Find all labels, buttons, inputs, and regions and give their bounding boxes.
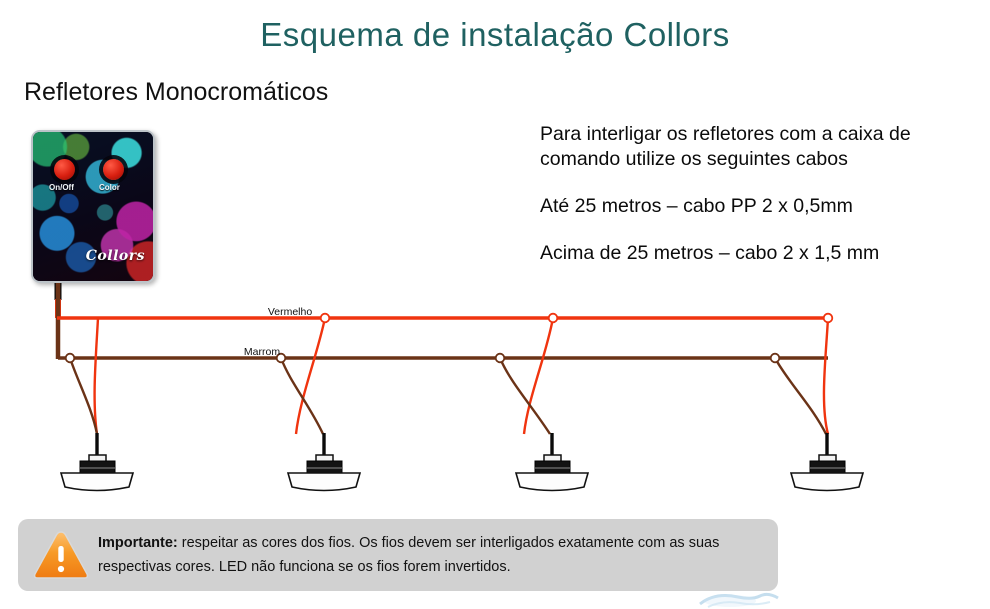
brown-wire-label: Marrom <box>244 346 280 358</box>
important-warning-box: Importante: respeitar as cores dos fios.… <box>18 519 778 591</box>
section-subtitle: Refletores Monocromáticos <box>24 78 328 107</box>
led-fixture <box>516 455 588 491</box>
red-wire-label: Vermelho <box>268 306 313 318</box>
warning-bold-prefix: Importante: <box>98 535 178 551</box>
led-fixture <box>288 455 360 491</box>
led-fixture <box>791 455 863 491</box>
on-off-button[interactable] <box>54 159 75 180</box>
cable-info-intro: Para interligar os refletores com a caix… <box>540 122 980 172</box>
led-fixture <box>61 455 133 491</box>
brown-bus-node <box>277 354 286 363</box>
bottom-watermark-graphic <box>660 588 880 609</box>
warning-triangle-icon <box>32 529 90 581</box>
red-bus-node <box>824 314 833 323</box>
page-title: Esquema de instalação Collors <box>0 16 990 54</box>
red-bus-node <box>321 314 330 323</box>
cable-spec-over-25m: Acima de 25 metros – cabo 2 x 1,5 mm <box>540 241 980 266</box>
warning-message: Importante: respeitar as cores dos fios.… <box>98 531 762 579</box>
color-button[interactable] <box>103 159 124 180</box>
red-drop-wire-1 <box>296 318 325 434</box>
control-box-device: On/Off Color Collors <box>31 130 155 283</box>
brown-drop-wire-3 <box>775 358 826 434</box>
red-drop-wire-2 <box>524 318 553 434</box>
brown-bus-node <box>771 354 780 363</box>
on-off-button-label: On/Off <box>49 183 74 192</box>
brown-bus-node <box>66 354 75 363</box>
control-box-brand-logo: Collors <box>86 248 145 264</box>
cable-info-block: Para interligar os refletores com a caix… <box>540 122 980 266</box>
cable-spec-under-25m: Até 25 metros – cabo PP 2 x 0,5mm <box>540 194 980 219</box>
brown-bus-node <box>496 354 505 363</box>
red-drop-wire-3 <box>824 318 828 434</box>
brown-drop-wire-1 <box>281 358 323 434</box>
warning-body-text: respeitar as cores dos fios. Os fios dev… <box>98 535 719 575</box>
red-bus-node <box>549 314 558 323</box>
brown-drop-wire-0 <box>70 358 97 434</box>
brown-drop-wire-2 <box>500 358 550 434</box>
color-button-label: Color <box>99 183 120 192</box>
red-drop-wire-0 <box>95 318 98 434</box>
